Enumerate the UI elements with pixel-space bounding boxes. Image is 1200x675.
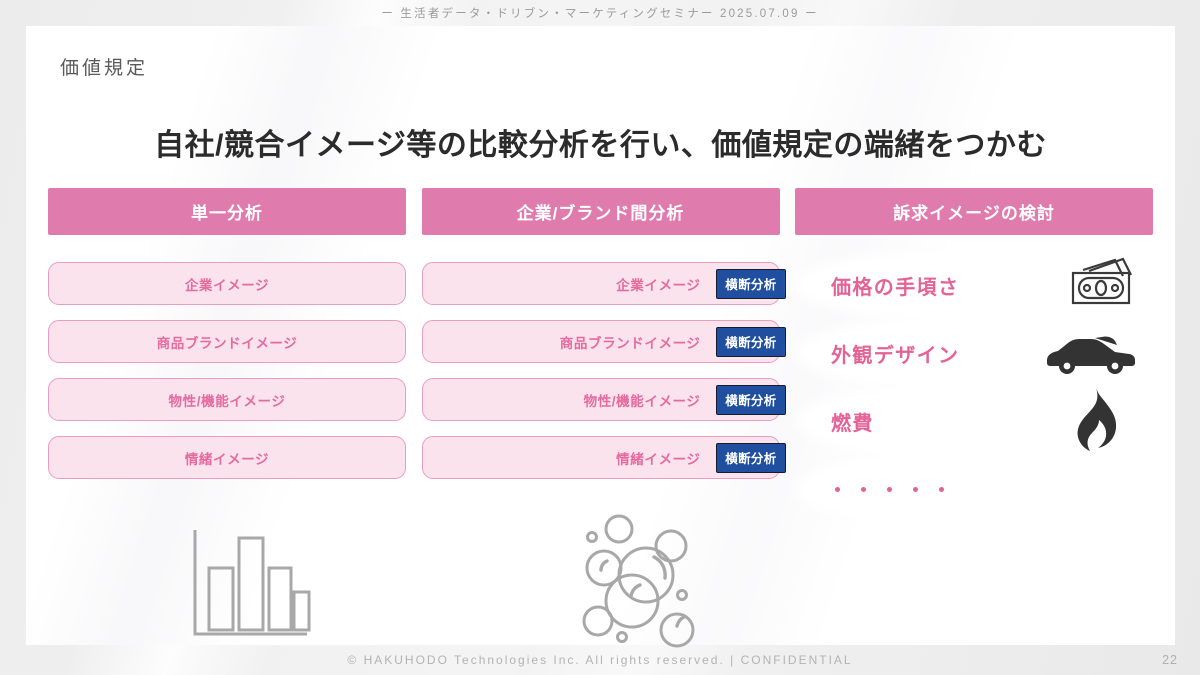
column-single-analysis: 単一分析 企業イメージ 商品ブランドイメージ 物性/機能イメージ 情緒イメージ xyxy=(48,188,406,523)
column-cross-brand-analysis: 企業/ブランド間分析 企業イメージ 横断分析 商品ブランドイメージ 横断分析 物… xyxy=(422,188,780,523)
pill-list-single-analysis: 企業イメージ 商品ブランドイメージ 物性/機能イメージ 情緒イメージ xyxy=(48,262,406,479)
car-icon xyxy=(1043,332,1135,374)
slide-canvas: 価値規定 自社/競合イメージ等の比較分析を行い、価値規定の端緒をつかむ 単一分析… xyxy=(26,26,1175,645)
list-item[interactable]: 企業イメージ 横断分析 xyxy=(422,262,780,305)
list-item xyxy=(795,455,1153,523)
oval-label-exterior-design: 外観デザイン xyxy=(831,339,959,368)
list-item[interactable]: 物性/機能イメージ 横断分析 xyxy=(422,378,780,421)
copyright-text: © HAKUHODO Technologies Inc. All rights … xyxy=(347,653,852,667)
list-item[interactable]: 価格の手頃さ xyxy=(795,251,1153,319)
page-number: 22 xyxy=(1162,653,1178,667)
pill-company-image[interactable]: 企業イメージ xyxy=(48,262,406,305)
analysis-columns: 単一分析 企業イメージ 商品ブランドイメージ 物性/機能イメージ 情緒イメージ … xyxy=(26,188,1175,523)
footer: © HAKUHODO Technologies Inc. All rights … xyxy=(0,653,1200,667)
pill-product-brand-image[interactable]: 商品ブランドイメージ xyxy=(48,320,406,363)
list-item[interactable]: 企業イメージ xyxy=(48,262,406,305)
bubbles-icon xyxy=(574,513,706,656)
badge-cross-analysis[interactable]: 横断分析 xyxy=(716,385,785,415)
column-header-cross-brand-analysis: 企業/ブランド間分析 xyxy=(422,188,780,235)
pill-list-cross-brand-analysis: 企業イメージ 横断分析 商品ブランドイメージ 横断分析 物性/機能イメージ 横断… xyxy=(422,262,780,479)
ellipsis-dots-icon xyxy=(835,487,944,492)
column-header-appeal-image-review: 訴求イメージの検討 xyxy=(795,188,1153,235)
list-item[interactable]: 情緒イメージ 横断分析 xyxy=(422,436,780,479)
bar-chart-icon xyxy=(189,524,313,649)
pill-physical-functional-image[interactable]: 物性/機能イメージ xyxy=(48,378,406,421)
seminar-header-bar: ー 生活者データ・ドリブン・マーケティングセミナー 2025.07.09 ー xyxy=(0,0,1200,26)
slide-headline: 自社/競合イメージ等の比較分析を行い、価値規定の端緒をつかむ xyxy=(26,120,1175,164)
column-appeal-image-review: 訴求イメージの検討 価格の手頃さ xyxy=(795,188,1153,523)
pill-emotional-image[interactable]: 情緒イメージ xyxy=(48,436,406,479)
oval-list-appeal-image: 価格の手頃さ xyxy=(795,251,1153,523)
list-item[interactable]: 物性/機能イメージ xyxy=(48,378,406,421)
page-title: 価値規定 xyxy=(60,53,148,80)
list-item[interactable]: 情緒イメージ xyxy=(48,436,406,479)
badge-cross-analysis[interactable]: 横断分析 xyxy=(716,327,785,357)
flame-icon xyxy=(1063,387,1135,455)
list-item[interactable]: 商品ブランドイメージ 横断分析 xyxy=(422,320,780,363)
money-icon xyxy=(1063,257,1135,313)
list-item[interactable]: 燃費 xyxy=(795,387,1153,455)
seminar-header-text: ー 生活者データ・ドリブン・マーケティングセミナー 2025.07.09 ー xyxy=(381,5,818,21)
oval-label-fuel-economy: 燃費 xyxy=(831,407,874,436)
badge-cross-analysis[interactable]: 横断分析 xyxy=(716,443,785,473)
list-item[interactable]: 商品ブランドイメージ xyxy=(48,320,406,363)
column-header-single-analysis: 単一分析 xyxy=(48,188,406,235)
list-item[interactable]: 外観デザイン xyxy=(795,319,1153,387)
oval-label-price-affordability: 価格の手頃さ xyxy=(831,271,959,300)
badge-cross-analysis[interactable]: 横断分析 xyxy=(716,269,785,299)
